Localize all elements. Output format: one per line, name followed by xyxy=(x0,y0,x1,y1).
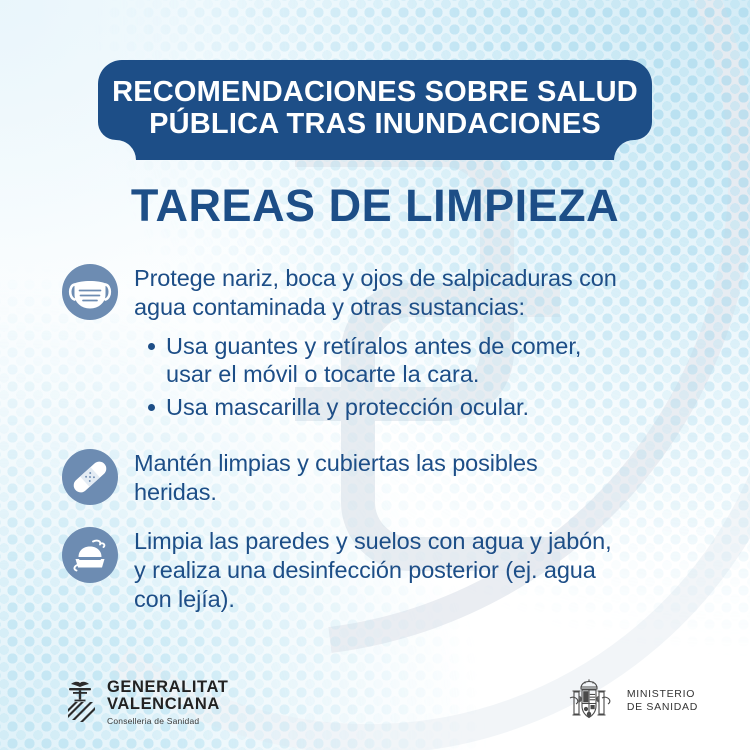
header-banner: RECOMENDACIONES SOBRE SALUD PÚBLICA TRAS… xyxy=(98,60,652,160)
ministerio-line-1: MINISTERIO xyxy=(627,688,698,701)
banner-title-line-1: RECOMENDACIONES SOBRE SALUD xyxy=(98,76,652,108)
text-line: y realiza una desinfección posterior (ej… xyxy=(134,556,722,585)
generalitat-crest-icon xyxy=(62,679,98,725)
banner-title-line-2: PÚBLICA TRAS INUNDACIONES xyxy=(98,108,652,140)
recommendation-text: Protege nariz, boca y ojos de salpicadur… xyxy=(134,264,722,322)
recommendation-text: Limpia las paredes y suelos con agua y j… xyxy=(134,527,722,614)
text-line: Protege nariz, boca y ojos de salpicadur… xyxy=(134,264,722,293)
text-line: con lejía). xyxy=(134,585,722,614)
recommendation-item: Limpia las paredes y suelos con agua y j… xyxy=(62,525,722,614)
generalitat-wordmark: GENERALITAT VALENCIANA Conselleria de Sa… xyxy=(107,679,228,726)
generalitat-line-1: GENERALITAT xyxy=(107,679,228,696)
spain-coat-of-arms-icon xyxy=(561,678,617,724)
generalitat-subtitle: Conselleria de Sanidad xyxy=(107,716,228,726)
recommendations-list: Protege nariz, boca y ojos de salpicadur… xyxy=(62,262,722,614)
scrub-brush-icon xyxy=(62,527,118,583)
page-title: TAREAS DE LIMPIEZA xyxy=(0,180,750,232)
bandage-icon xyxy=(62,449,118,505)
text-line: Mantén limpias y cubiertas las posibles xyxy=(134,449,722,478)
text-line: usar el móvil o tocarte la cara. xyxy=(166,360,722,388)
ministerio-line-2: DE SANIDAD xyxy=(627,701,698,714)
text-line: heridas. xyxy=(134,478,722,507)
text-line: Usa guantes y retíralos antes de comer, xyxy=(166,332,722,360)
recommendation-body: Limpia las paredes y suelos con agua y j… xyxy=(134,525,722,614)
footer: GENERALITAT VALENCIANA Conselleria de Sa… xyxy=(0,662,750,736)
generalitat-valenciana-logo: GENERALITAT VALENCIANA Conselleria de Sa… xyxy=(62,679,228,726)
recommendation-text: Mantén limpias y cubiertas las posibles … xyxy=(134,449,722,507)
generalitat-line-2: VALENCIANA xyxy=(107,696,228,713)
recommendation-body: Mantén limpias y cubiertas las posibles … xyxy=(134,447,722,507)
banner-title: RECOMENDACIONES SOBRE SALUD PÚBLICA TRAS… xyxy=(98,60,652,141)
recommendation-body: Protege nariz, boca y ojos de salpicadur… xyxy=(134,262,722,425)
face-mask-icon xyxy=(62,264,118,320)
text-line: agua contaminada y otras sustancias: xyxy=(134,293,722,322)
recommendation-item: Mantén limpias y cubiertas las posibles … xyxy=(62,447,722,507)
ministerio-wordmark: MINISTERIO DE SANIDAD xyxy=(627,688,698,714)
ministerio-de-sanidad-logo: MINISTERIO DE SANIDAD xyxy=(561,678,698,724)
text-line: Limpia las paredes y suelos con agua y j… xyxy=(134,527,722,556)
bullet-list: Usa guantes y retíralos antes de comer, … xyxy=(134,332,722,421)
infographic-poster: RECOMENDACIONES SOBRE SALUD PÚBLICA TRAS… xyxy=(0,0,750,750)
list-item: Usa guantes y retíralos antes de comer, … xyxy=(166,332,722,388)
list-item: Usa mascarilla y protección ocular. xyxy=(166,393,722,421)
recommendation-item: Protege nariz, boca y ojos de salpicadur… xyxy=(62,262,722,425)
text-line: Usa mascarilla y protección ocular. xyxy=(166,393,722,421)
